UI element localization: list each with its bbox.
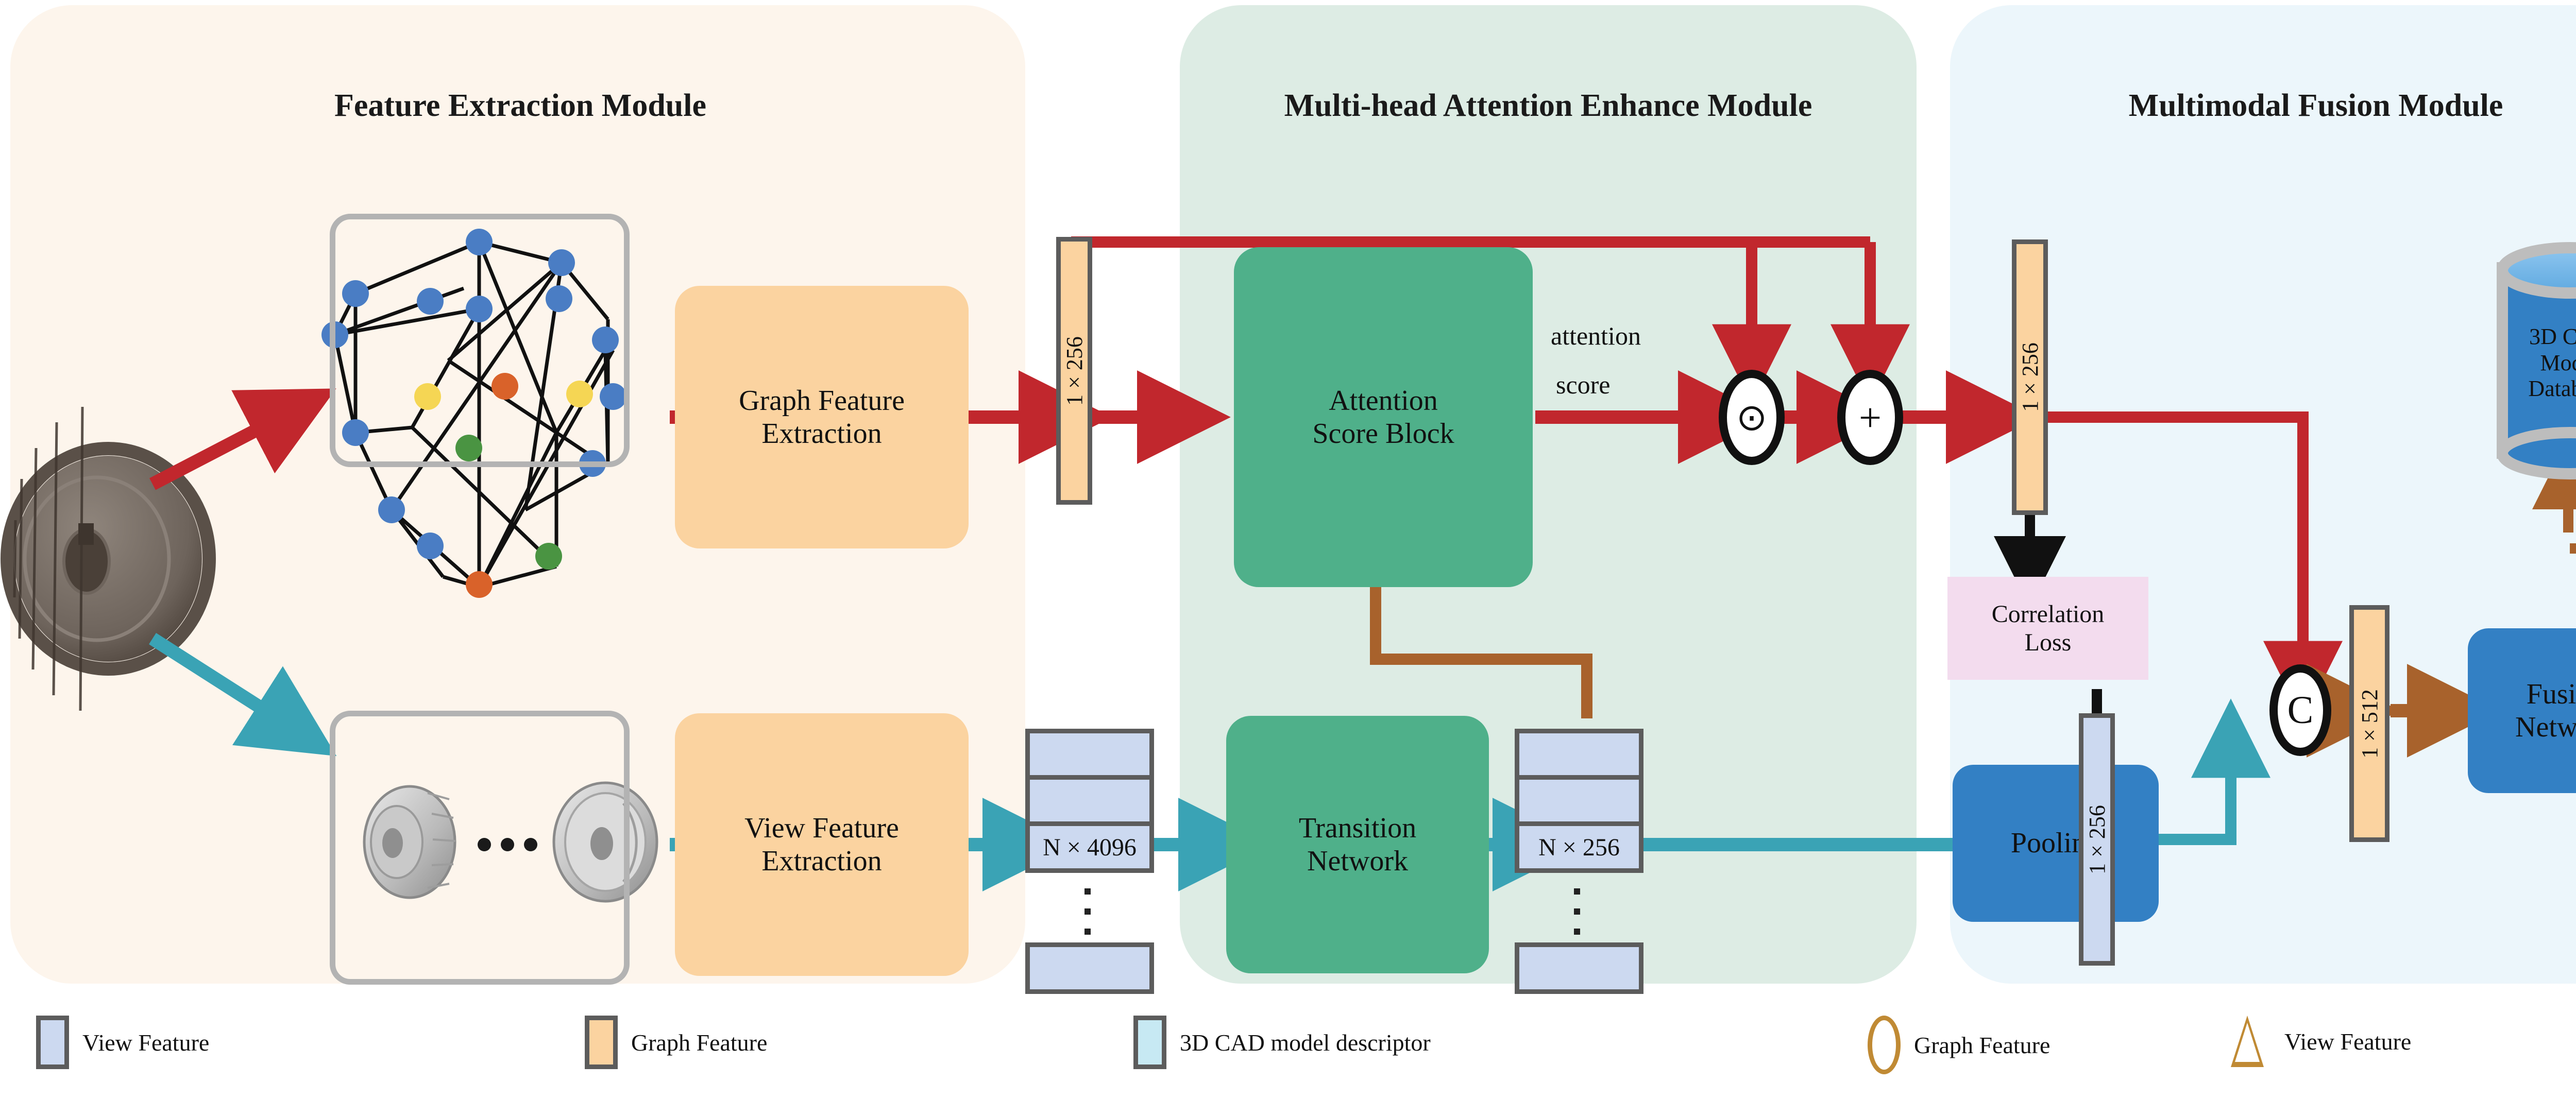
pooling-block[interactable]: Pooling [1953,765,2159,922]
view-feature-cell-top [1025,729,1154,780]
legend-label-view-triangle: View Feature [2284,1028,2411,1055]
vfe-line2: Extraction [744,845,899,878]
legend-item-view-triangle: View Feature [2231,1016,2411,1067]
gfe-line2: Extraction [739,417,905,450]
concat-operator: C [2269,664,2331,756]
edge-model-to-graph [152,412,291,484]
cl-line2: Loss [1992,628,2105,657]
transition-cell-top [1515,729,1643,780]
legend-item-view-feature: View Feature [36,1016,209,1069]
pooled-1x256-bar: 1 × 256 [2079,713,2115,966]
descriptor-swatch [1133,1016,1166,1069]
concat-1x512-bar: 1 × 512 [2349,605,2389,842]
transition-network-block[interactable]: Transition Network [1226,716,1489,973]
attention-score-block[interactable]: Attention Score Block [1234,247,1533,587]
gfe-line1: Graph Feature [739,384,905,417]
transition-cell-bottom [1515,942,1643,994]
graph-1x256-label: 1 × 256 [1061,336,1088,406]
fusion-network-block[interactable]: Fusion Network [2468,628,2576,793]
attn-text-line2: score [1551,360,1721,409]
multiply-operator: ⊙ [1719,370,1785,465]
db-line1: 3D CAD [2528,324,2576,350]
graph-feature-circle-icon [1868,1016,1901,1074]
legend-item-descriptor: 3D CAD model descriptor [1133,1016,1431,1069]
edge-retrieval [2568,476,2576,639]
attn-text-line1: attention [1551,312,1721,360]
concat-1x512-label: 1 × 512 [2357,689,2383,759]
vfe-line1: View Feature [744,812,899,845]
db-line2: Model [2528,350,2576,376]
db-line3: Database [2528,376,2576,402]
view-feature-cell-mid [1025,775,1154,827]
cad-model-gear [7,407,209,711]
legend-label-graph-circle: Graph Feature [1914,1032,2050,1059]
transition-cell-mid [1515,775,1643,827]
view-feature-cell-bottom [1025,942,1154,994]
fn-line2: Network [2515,711,2576,744]
view-feature-ellipsis [1084,888,1091,935]
view-feature-swatch [36,1016,69,1069]
legend-label-descriptor: 3D CAD model descriptor [1180,1029,1431,1056]
graph-feature-extraction-block[interactable]: Graph Feature Extraction [675,286,969,548]
asb-line1: Attention [1312,384,1454,417]
database-label: 3D CAD Model Database [2502,281,2576,445]
legend-item-graph-feature: Graph Feature [585,1016,767,1069]
legend: View Feature Graph Feature 3D CAD model … [0,994,2576,1099]
transition-Nx256-cell: N × 256 [1515,821,1643,873]
tn-line2: Network [1299,845,1416,878]
legend-item-graph-circle: Graph Feature [1868,1016,2050,1074]
legend-label-view-feature: View Feature [82,1029,209,1056]
view-feature-triangle-icon [2231,1016,2264,1067]
tn-line1: Transition [1299,812,1416,845]
cl-line1: Correlation [1992,600,2105,628]
add-operator: + [1837,370,1903,465]
legend-label-graph-feature: Graph Feature [631,1029,767,1056]
transition-ellipsis [1573,888,1581,935]
attention-score-text: attention score [1551,312,1721,409]
diagram-canvas: Feature Extraction Module Multi-head Att… [0,0,2576,1099]
view-feature-Nx4096-cell: N × 4096 [1025,821,1154,873]
multi-view-frame [330,711,630,985]
enhanced-1x256-bar: 1 × 256 [2012,239,2048,515]
edge-model-to-views [152,639,294,729]
graph-feature-1x256-bar: 1 × 256 [1056,237,1092,505]
graph-feature-swatch [585,1016,618,1069]
correlation-loss-box[interactable]: Correlation Loss [1947,577,2148,680]
asb-line2: Score Block [1312,417,1454,450]
graph-representation-frame [330,214,630,467]
fn-line1: Fusion [2515,678,2576,711]
pooled-1x256-label: 1 × 256 [2084,805,2110,874]
enhanced-1x256-label: 1 × 256 [2017,342,2043,412]
view-feature-extraction-block[interactable]: View Feature Extraction [675,713,969,976]
